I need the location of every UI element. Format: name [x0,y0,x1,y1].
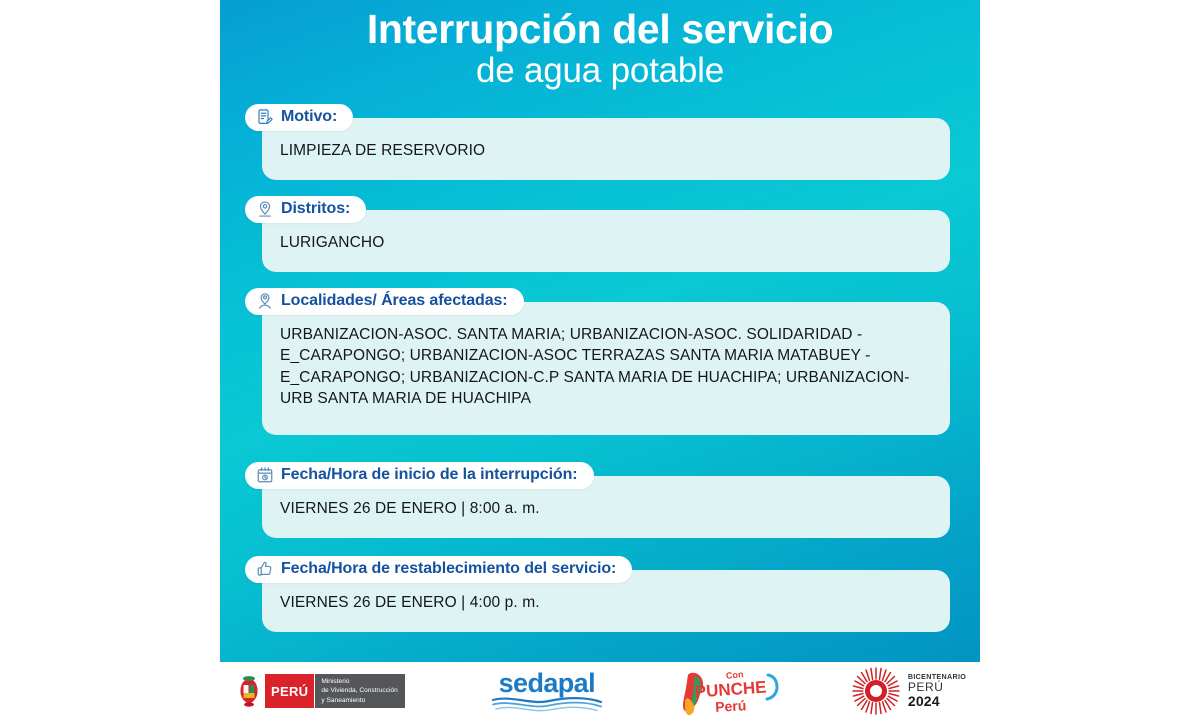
inicio-label-pill: Fecha/Hora de inicio de la interrupción: [245,462,594,489]
motivo-card: LIMPIEZA DE RESERVORIO [262,118,950,180]
field-motivo: LIMPIEZA DE RESERVORIO Motivo: [245,104,950,180]
service-interruption-poster: Interrupción del servicio de agua potabl… [0,0,1200,720]
thumbs-up-icon [256,560,274,578]
logo-ministerio-vivienda: PERÚ Ministerio de Vivienda, Construcció… [236,674,405,708]
localidades-card: URBANIZACION-ASOC. SANTA MARIA; URBANIZA… [262,302,950,435]
document-pencil-icon [256,108,274,126]
person-location-icon [256,292,274,310]
location-pin-icon [256,200,274,218]
title-line-2: de agua potable [220,53,980,89]
distritos-label-pill: Distritos: [245,196,366,223]
logo-sedapal: sedapal [491,670,603,712]
bicentenario-line-3: 2024 [908,694,966,709]
motivo-value: LIMPIEZA DE RESERVORIO [280,140,932,161]
bicentenario-line-2: PERÚ [908,681,966,694]
restablecimiento-label-pill: Fecha/Hora de restablecimiento del servi… [245,556,632,583]
svg-text:Perú: Perú [715,697,747,715]
restablecimiento-label: Fecha/Hora de restablecimiento del servi… [281,560,616,578]
field-distritos: LURIGANCHO Distritos: [245,196,950,272]
field-restablecimiento: VIERNES 26 DE ENERO | 4:00 p. m. Fecha/H… [245,556,950,632]
motivo-label: Motivo: [281,108,337,126]
motivo-label-pill: Motivo: [245,104,353,131]
distritos-value: LURIGANCHO [280,232,932,253]
inicio-value: VIERNES 26 DE ENERO | 8:00 a. m. [280,498,932,519]
distritos-label: Distritos: [281,200,350,218]
sunburst-icon [851,666,901,716]
calendar-clock-icon [256,466,274,484]
localidades-value: URBANIZACION-ASOC. SANTA MARIA; URBANIZA… [280,324,932,410]
water-waves-icon [491,696,603,712]
localidades-label-pill: Localidades/ Áreas afectadas: [245,288,524,315]
title-line-1: Interrupción del servicio [220,8,980,51]
restablecimiento-value: VIERNES 26 DE ENERO | 4:00 p. m. [280,592,932,613]
peru-coat-of-arms-icon [236,674,262,708]
field-localidades: URBANIZACION-ASOC. SANTA MARIA; URBANIZA… [245,288,950,438]
logo-bicentenario-peru: BICENTENARIO PERÚ 2024 [851,666,966,716]
inicio-label: Fecha/Hora de inicio de la interrupción: [281,466,578,484]
field-inicio: VIERNES 26 DE ENERO | 8:00 a. m. Fecha/H… [245,462,950,538]
distritos-card: LURIGANCHO [262,210,950,272]
sedapal-wordmark: sedapal [499,670,595,697]
localidades-label: Localidades/ Áreas afectadas: [281,292,508,310]
page-title: Interrupción del servicio de agua potabl… [220,8,980,89]
peru-wordmark: PERÚ [265,674,314,708]
ministerio-name: Ministerio de Vivienda, Construcción y S… [314,674,405,708]
logo-con-punche-peru: Con PUNCHE Perú [673,666,785,716]
footer-logos: PERÚ Ministerio de Vivienda, Construcció… [0,662,1200,720]
